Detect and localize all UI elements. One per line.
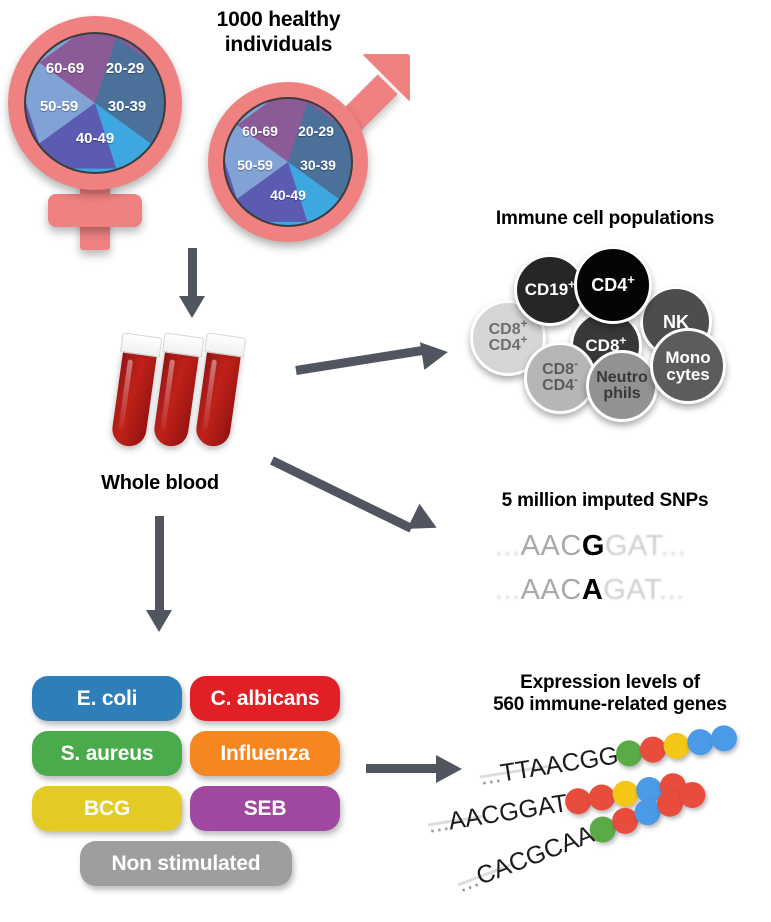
dot-blue <box>709 724 739 754</box>
stimulus-non-stimulated[interactable]: Non stimulated <box>80 841 292 886</box>
immune-cell-monocytes: Monocytes <box>650 328 726 404</box>
immune-cell-label: Monocytes <box>665 349 710 384</box>
pie-label-30-39: 30-39 <box>96 98 158 115</box>
stimulus-label: Influenza <box>220 742 309 766</box>
dot-red <box>638 735 668 765</box>
pie-label-40-49: 40-49 <box>259 187 317 203</box>
stimuli-panel: E. coli C. albicans S. aureus Influenza … <box>32 676 352 896</box>
arrow-stimuli-to-expression <box>366 752 486 792</box>
female-symbol-stem-horizontal <box>48 194 142 227</box>
section-title-expression: Expression levels of 560 immune-related … <box>460 672 760 717</box>
pie-label-60-69: 60-69 <box>34 60 96 77</box>
pie-label-20-29: 20-29 <box>287 123 345 139</box>
male-age-pie: 20-29 30-39 40-49 50-59 60-69 <box>223 97 353 227</box>
female-gender-symbol: 20-29 30-39 40-49 50-59 60-69 <box>8 16 188 251</box>
male-gender-symbol: 20-29 30-39 40-49 50-59 60-69 <box>196 46 426 246</box>
stimulus-s-aureus[interactable]: S. aureus <box>32 731 182 776</box>
stimulus-c-albicans[interactable]: C. albicans <box>190 676 340 721</box>
expression-strand-group: ...TTAACGG ...AACGGAT ...CACGCAA <box>470 730 770 910</box>
stimulus-label: Non stimulated <box>112 852 261 876</box>
blood-tube <box>110 333 159 449</box>
dot-blue <box>685 727 715 757</box>
strand-dots <box>616 724 739 768</box>
immune-cell-cd4pos: CD4+ <box>574 246 652 324</box>
stimulus-e-coli[interactable]: E. coli <box>32 676 182 721</box>
arrow-blood-to-snps <box>272 452 462 562</box>
immune-cell-label: Neutrophils <box>596 370 648 403</box>
immune-cell-cluster: CD8+ CD4+ CD19+ CD4+ CD8+ NK CD8- CD4- N… <box>462 238 762 420</box>
immune-cell-neutrophils: Neutrophils <box>586 350 658 422</box>
snp-sequence-row: ...AACGGAT... <box>495 530 686 563</box>
stimulus-seb[interactable]: SEB <box>190 786 340 831</box>
stimulus-label: SEB <box>244 797 287 821</box>
stimulus-label: C. albicans <box>211 687 320 711</box>
stimulus-bcg[interactable]: BCG <box>32 786 182 831</box>
snp-sequence-group: ...AACGGAT... ...AACAGAT... <box>495 530 745 620</box>
pie-label-50-59: 50-59 <box>226 157 284 173</box>
dot-yellow <box>662 731 692 761</box>
pie-label-40-49: 40-49 <box>64 130 126 147</box>
female-age-pie: 20-29 30-39 40-49 50-59 60-69 <box>24 32 166 174</box>
immune-cell-label: CD19+ <box>525 281 576 298</box>
stimulus-label: E. coli <box>77 687 137 711</box>
blood-tubes-group <box>110 328 250 468</box>
pie-label-30-39: 30-39 <box>289 157 347 173</box>
stimulus-label: BCG <box>84 797 130 821</box>
stimulus-label: S. aureus <box>61 742 154 766</box>
immune-cell-cd8neg-cd4neg: CD8- CD4- <box>524 342 596 414</box>
pie-label-20-29: 20-29 <box>94 60 156 77</box>
immune-cell-label: CD8+ CD4+ <box>489 322 528 355</box>
immune-cell-label: CD8- CD4- <box>542 362 578 395</box>
label-whole-blood: Whole blood <box>70 472 250 496</box>
pie-label-60-69: 60-69 <box>231 123 289 139</box>
snp-sequence-row: ...AACAGAT... <box>495 574 685 607</box>
pie-label-50-59: 50-59 <box>28 98 90 115</box>
arrow-blood-to-immune-cells <box>296 330 466 390</box>
immune-cell-label: CD4+ <box>591 276 635 294</box>
section-title-snps: 5 million imputed SNPs <box>455 490 755 512</box>
stimulus-influenza[interactable]: Influenza <box>190 731 340 776</box>
section-title-immune-cells: Immune cell populations <box>455 208 755 230</box>
